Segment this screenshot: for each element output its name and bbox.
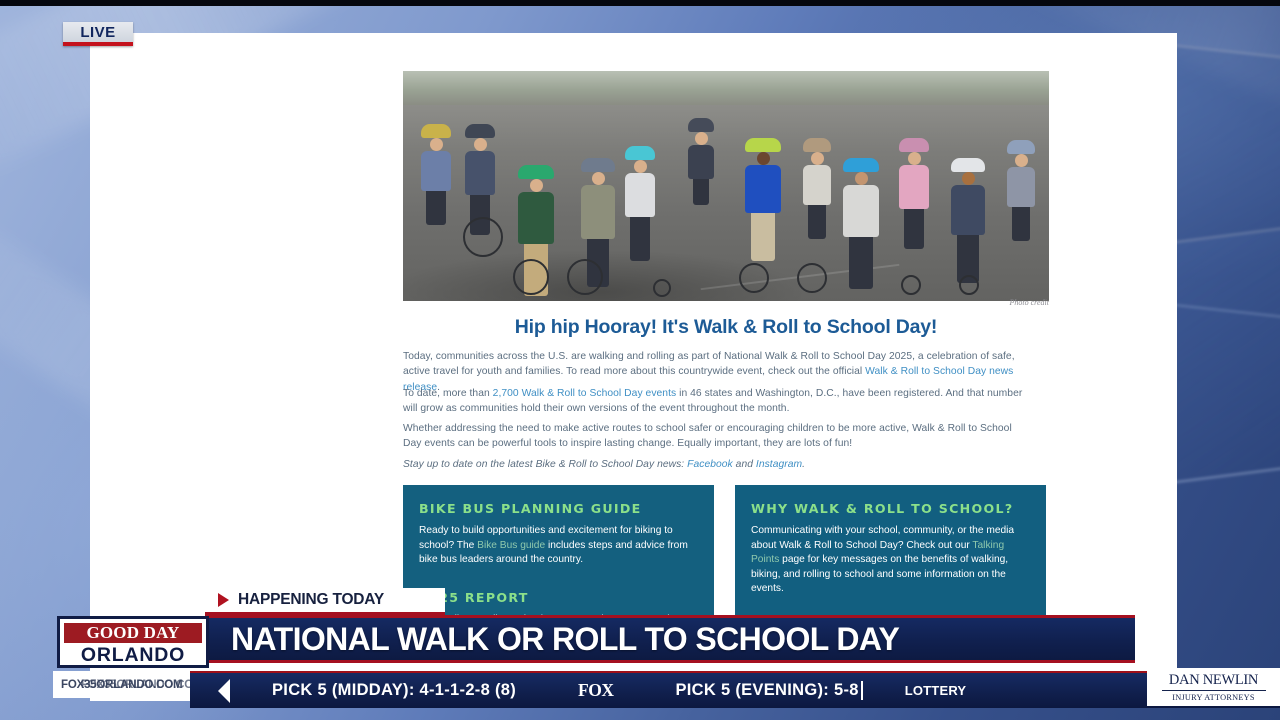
sponsor-name: DAN NEWLIN — [1169, 672, 1258, 689]
photo-figure — [1007, 140, 1035, 241]
bike-bus-guide-link[interactable]: Bike Bus guide — [477, 540, 545, 551]
photo-figure — [951, 158, 985, 283]
ticker-network-label: FOX — [578, 680, 613, 701]
photo-background-strip — [403, 71, 1049, 105]
letterbox-top — [0, 0, 1280, 6]
paragraph-text: and — [733, 459, 756, 470]
station-logo-line2: ORLANDO — [63, 644, 203, 666]
article-paragraph-2: To date, more than 2,700 Walk & Roll to … — [403, 386, 1033, 417]
photo-figure — [421, 124, 451, 225]
article-headline: Hip hip Hooray! It's Walk & Roll to Scho… — [403, 316, 1049, 339]
ticker-item-pick5-evening: PICK 5 (EVENING): 5-8 — [675, 681, 858, 700]
station-url-secondary: FOX35ORLANDO.COM — [81, 679, 202, 691]
card-body: Ready to build opportunities and excitem… — [419, 524, 698, 568]
live-badge: LIVE — [63, 22, 133, 46]
news-ticker[interactable]: PICK 5 (MIDDAY): 4-1-1-2-8 (8) FOX PICK … — [190, 671, 1280, 708]
sponsor-tagline: INJURY ATTORNEYS — [1172, 693, 1255, 702]
photo-wheel — [653, 279, 671, 297]
topic-tab: HAPPENING TODAY — [205, 588, 445, 615]
headline-bar: NATIONAL WALK OR ROLL TO SCHOOL DAY — [205, 615, 1135, 663]
station-logo-line1: GOOD DAY — [63, 622, 203, 644]
paragraph-text: . — [802, 459, 805, 470]
article-paragraph-4-social: Stay up to date on the latest Bike & Rol… — [403, 457, 1033, 472]
station-logo: GOOD DAY ORLANDO — [57, 616, 209, 668]
photo-wheel — [739, 263, 769, 293]
photo-wheel — [463, 217, 503, 257]
sponsor-divider — [1162, 690, 1266, 691]
photo-figure — [625, 146, 655, 261]
photo-wheel — [959, 275, 979, 295]
photo-wheel — [567, 259, 603, 295]
hero-photo-children-biking — [403, 71, 1049, 301]
paragraph-text: To date, more than — [403, 388, 493, 399]
card-body: Communicating with your school, communit… — [751, 524, 1030, 597]
headline-text: NATIONAL WALK OR ROLL TO SCHOOL DAY — [231, 621, 899, 658]
live-badge-label: LIVE — [80, 24, 115, 41]
events-count-link[interactable]: 2,700 Walk & Roll to School Day events — [493, 388, 677, 399]
topic-tab-label: HAPPENING TODAY — [238, 591, 384, 609]
facebook-link[interactable]: Facebook — [687, 459, 733, 470]
chevron-left-icon — [218, 679, 230, 703]
photo-figure — [803, 138, 831, 239]
ticker-item-pick5-midday: PICK 5 (MIDDAY): 4-1-1-2-8 (8) — [272, 681, 516, 700]
photo-figure — [899, 138, 929, 249]
sponsor-logo[interactable]: DAN NEWLIN INJURY ATTORNEYS — [1147, 668, 1280, 706]
photo-credit: Photo credit — [952, 298, 1049, 307]
photo-figure — [843, 158, 879, 289]
ticker-caret — [861, 681, 863, 700]
paragraph-text: Stay up to date on the latest Bike & Rol… — [403, 459, 687, 470]
card-title: WHY WALK & ROLL TO SCHOOL? — [751, 501, 1030, 516]
card-body-text: page for key messages on the benefits of… — [751, 554, 1008, 594]
card-title: BIKE BUS PLANNING GUIDE — [419, 501, 698, 516]
ticker-category-label: LOTTERY — [905, 683, 967, 698]
play-triangle-icon — [218, 593, 229, 607]
card-title-secondary: 2025 REPORT — [419, 590, 698, 605]
photo-wheel — [513, 259, 549, 295]
instagram-link[interactable]: Instagram — [756, 459, 802, 470]
photo-wheel — [797, 263, 827, 293]
photo-figure — [688, 118, 714, 205]
photo-figure — [745, 138, 781, 261]
photo-wheel — [901, 275, 921, 295]
article-paragraph-3: Whether addressing the need to make acti… — [403, 421, 1033, 452]
